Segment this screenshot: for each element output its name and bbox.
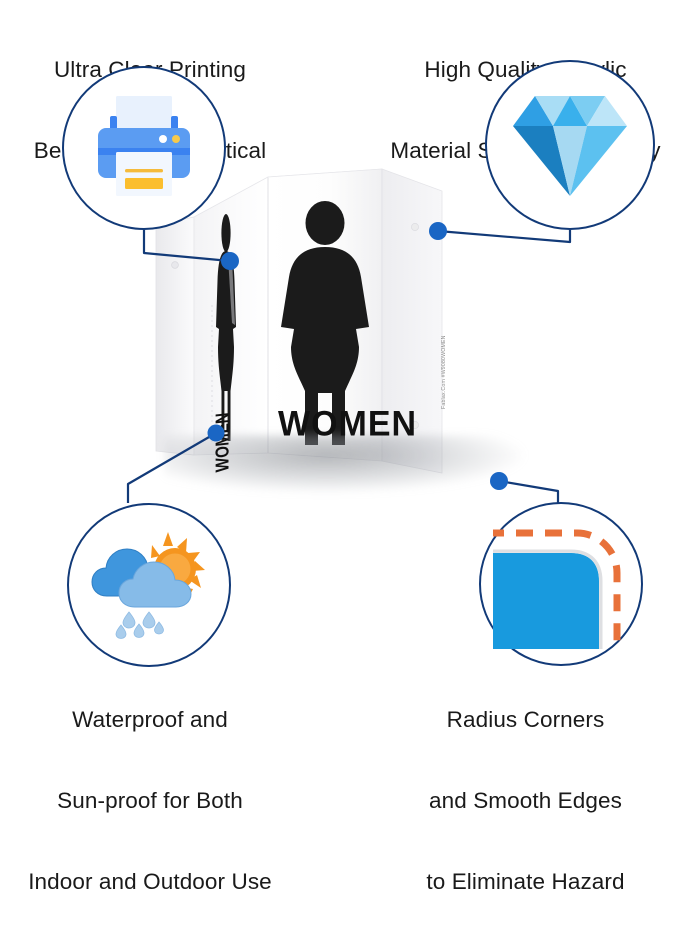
caption-radius-line-3: to Eliminate Hazard bbox=[372, 868, 679, 895]
product-image: WOMEN WOMEN Fablax.Com #W9080WOMEN bbox=[150, 155, 540, 495]
caption-weather-line-3: Indoor and Outdoor Use bbox=[0, 868, 300, 895]
rounded-corner-icon bbox=[493, 519, 629, 649]
printer-icon bbox=[85, 92, 203, 204]
sign-label-side: WOMEN bbox=[212, 412, 233, 473]
caption-weather-line-2: Sun-proof for Both bbox=[0, 787, 300, 814]
sign-label-front: WOMEN bbox=[278, 404, 382, 445]
feature-circle-weather bbox=[67, 503, 231, 667]
caption-weather: Waterproof and Sun-proof for Both Indoor… bbox=[0, 652, 300, 949]
product-watermark: Fablax.Com #W9080WOMEN bbox=[441, 335, 447, 409]
caption-radius-line-2: and Smooth Edges bbox=[372, 787, 679, 814]
feature-circle-acrylic bbox=[485, 60, 655, 230]
diamond-icon bbox=[509, 88, 631, 202]
caption-radius-line-1: Radius Corners bbox=[372, 706, 679, 733]
sun-cloud-rain-icon bbox=[87, 526, 211, 644]
infographic-canvas: Ultra Clear Printing Beautiful Fine Prac… bbox=[0, 0, 679, 735]
caption-radius: Radius Corners and Smooth Edges to Elimi… bbox=[372, 652, 679, 949]
caption-weather-line-1: Waterproof and bbox=[0, 706, 300, 733]
feature-circle-printing bbox=[62, 66, 226, 230]
feature-circle-radius bbox=[479, 502, 643, 666]
